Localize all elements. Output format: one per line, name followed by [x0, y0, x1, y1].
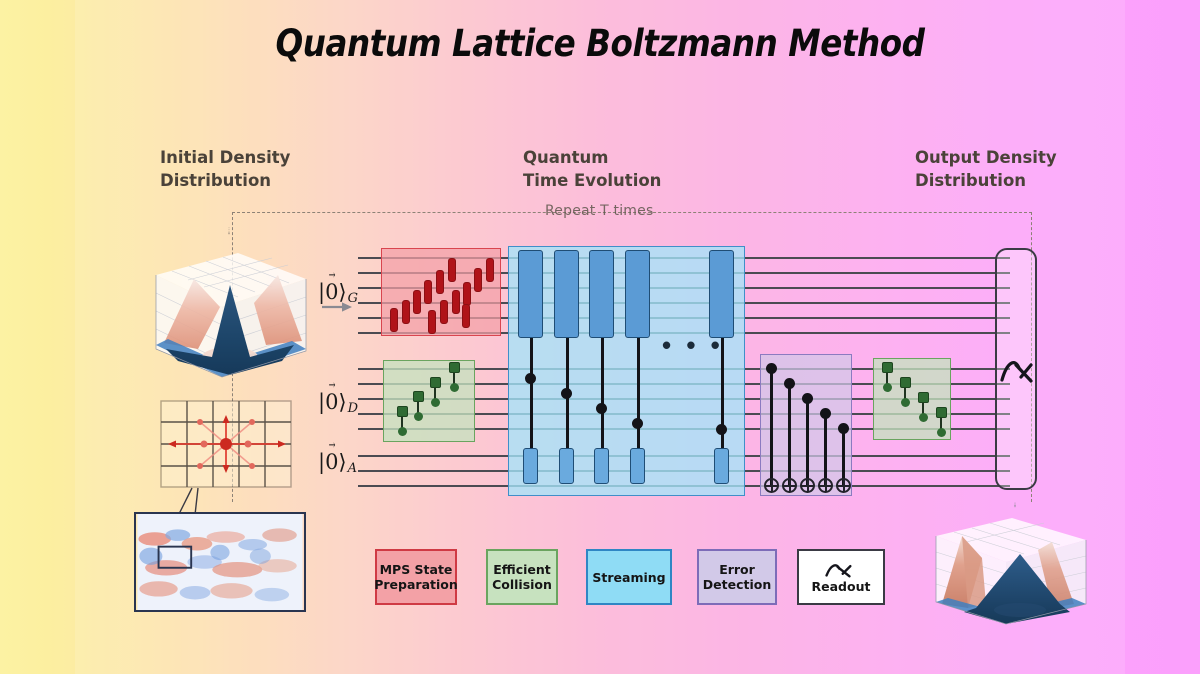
- cnot-control-dot: [766, 363, 777, 374]
- streaming-gate: [709, 250, 734, 338]
- legend-error-detection[interactable]: Error Detection: [697, 549, 777, 605]
- streaming-ancilla-gate: [523, 448, 538, 484]
- collision-gate: [900, 377, 911, 388]
- collision-gate-dot: [937, 428, 946, 437]
- streaming-control-dot: [561, 388, 572, 399]
- output-density-surface: [920, 512, 1098, 642]
- page-title: Quantum Lattice Boltzmann Method: [72, 22, 1128, 65]
- cnot-target-icon: [782, 478, 797, 493]
- streaming-control-dot: [716, 424, 727, 435]
- streaming-ancilla-gate: [630, 448, 645, 484]
- mps-gate: [448, 258, 456, 282]
- cnot-target-icon: [836, 478, 851, 493]
- heading-output-density: Output Density Distribution: [915, 146, 1057, 192]
- streaming-control-dot: [525, 373, 536, 384]
- cnot-link: [824, 413, 827, 486]
- mps-gate: [462, 304, 470, 328]
- flow-field-visualization: [134, 512, 306, 612]
- streaming-ellipsis: • • •: [662, 340, 724, 350]
- meter-icon: [997, 350, 1037, 390]
- collision-gate-dot: [883, 383, 892, 392]
- collision-gate-dot: [901, 398, 910, 407]
- collision-gate: [918, 392, 929, 403]
- legend-readout-label: Readout: [812, 579, 871, 594]
- legend-streaming[interactable]: Streaming: [586, 549, 672, 605]
- cnot-link: [770, 368, 773, 486]
- mps-gate: [413, 290, 421, 314]
- collision-gate: [936, 407, 947, 418]
- collision-gate: [449, 362, 460, 373]
- cnot-control-dot: [838, 423, 849, 434]
- mps-gate: [463, 282, 471, 306]
- cnot-target-icon: [764, 478, 779, 493]
- cnot-link: [788, 383, 791, 486]
- heading-quantum-time-evolution: Quantum Time Evolution: [523, 146, 661, 192]
- collision-gate: [882, 362, 893, 373]
- legend-efficient-collision[interactable]: Efficient Collision: [486, 549, 558, 605]
- streaming-gate: [554, 250, 579, 338]
- register-label-d: |0⟩D: [318, 390, 358, 416]
- collision-gate-dot: [431, 398, 440, 407]
- meter-icon: [824, 561, 858, 578]
- cnot-control-dot: [802, 393, 813, 404]
- streaming-ancilla-gate: [594, 448, 609, 484]
- streaming-gate: [625, 250, 650, 338]
- streaming-ancilla-gate: [714, 448, 729, 484]
- collision-gate: [397, 406, 408, 417]
- streaming-control-dot: [596, 403, 607, 414]
- collision-block-1[interactable]: [383, 360, 475, 442]
- legend-readout[interactable]: Readout: [797, 549, 885, 605]
- streaming-gate: [518, 250, 543, 338]
- initial-density-surface: [142, 245, 314, 390]
- figure-stage: Quantum Lattice Boltzmann Method Initial…: [0, 0, 1200, 674]
- cnot-link: [806, 398, 809, 486]
- collision-gate-dot: [919, 413, 928, 422]
- heading-initial-density: Initial Density Distribution: [160, 146, 290, 192]
- streaming-gate: [589, 250, 614, 338]
- mps-gate: [486, 258, 494, 282]
- mps-gate: [428, 310, 436, 334]
- lattice-stencil: [160, 400, 292, 488]
- cnot-control-dot: [784, 378, 795, 389]
- mps-gate: [390, 308, 398, 332]
- collision-gate-dot: [398, 427, 407, 436]
- mps-gate: [436, 270, 444, 294]
- streaming-control-dot: [632, 418, 643, 429]
- register-label-g: |0⟩G: [318, 280, 358, 306]
- mps-gate: [402, 300, 410, 324]
- mps-gate: [440, 300, 448, 324]
- cnot-target-icon: [800, 478, 815, 493]
- repeat-loop-label: Repeat T times: [545, 203, 653, 219]
- collision-gate-dot: [414, 412, 423, 421]
- mps-gate: [452, 290, 460, 314]
- collision-gate-dot: [450, 383, 459, 392]
- mps-gate: [474, 268, 482, 292]
- collision-gate: [430, 377, 441, 388]
- cnot-target-icon: [818, 478, 833, 493]
- register-label-a: |0⟩A: [318, 450, 357, 476]
- legend-mps-state-preparation[interactable]: MPS State Preparation: [375, 549, 457, 605]
- streaming-ancilla-gate: [559, 448, 574, 484]
- collision-gate: [413, 391, 424, 402]
- mps-gate: [424, 280, 432, 304]
- cnot-control-dot: [820, 408, 831, 419]
